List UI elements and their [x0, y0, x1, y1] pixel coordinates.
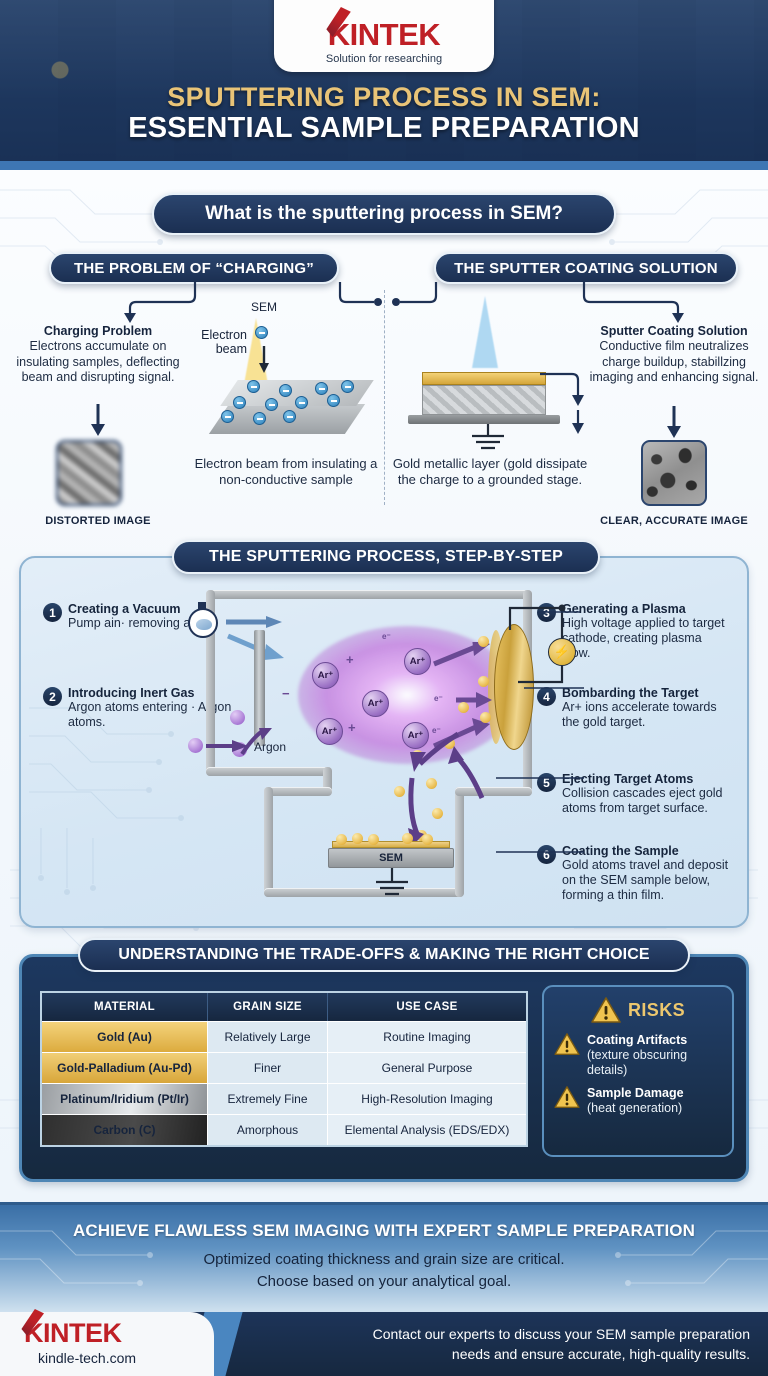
cell-grain: Amorphous: [208, 1114, 328, 1145]
section-heading-process: THE SPUTTERING PROCESS, STEP-BY-STEP: [172, 540, 600, 574]
solution-text-block: Sputter Coating Solution Conductive film…: [588, 324, 760, 385]
brand-name: KINTEK: [328, 17, 440, 52]
plus-marker: +: [346, 652, 354, 667]
argon-atom-particle: [230, 710, 245, 725]
surface-electron-icon: [279, 384, 292, 397]
electron-beam-label: Electron beam: [195, 328, 247, 357]
surface-electron-icon: [233, 396, 246, 409]
solution-body: Conductive film neutralizes charge build…: [588, 339, 760, 385]
risks-heading-label: RISKS: [628, 1000, 685, 1021]
step-number-badge: 2: [43, 687, 62, 706]
argon-ion-particle: Ar⁺: [316, 718, 343, 745]
risk-subtext: (texture obscuring details): [587, 1048, 722, 1078]
chamber-ground-symbol-icon: [372, 868, 414, 902]
coated-beam-cone-icon: [472, 296, 498, 368]
footer-bar: KINTEK kindle-tech.com Contact our exper…: [0, 1312, 768, 1376]
step-title: Generating a Plasma: [562, 602, 729, 616]
risk-subtext: (heat generation): [587, 1101, 684, 1116]
chamber-pipe-link-left: [264, 787, 332, 796]
column-header-use-case: USE CASE: [328, 993, 526, 1021]
gold-atom-particle: [478, 676, 489, 687]
section-heading-question: What is the sputtering process in SEM?: [152, 193, 616, 235]
surface-electron-icon: [221, 410, 234, 423]
step-body: Collision cascades eject gold atoms from…: [562, 786, 729, 816]
brand-tagline: Solution for researching: [326, 53, 442, 65]
distorted-image-label: DISTORTED IMAGE: [14, 515, 182, 527]
sputtering-process-panel: 1 Creating a Vacuum Pump ain· removing a…: [19, 556, 749, 928]
solution-down-arrow-icon: [656, 406, 692, 440]
chamber-pipe-top: [206, 590, 532, 599]
risk-name: Sample Damage: [587, 1086, 684, 1101]
warning-triangle-icon: [554, 1086, 580, 1109]
table-row: Carbon (C) Amorphous Elemental Analysis …: [42, 1114, 526, 1145]
electron-marker: e⁻: [382, 632, 391, 641]
footer-contact-line-1: Contact our experts to discuss your SEM …: [250, 1326, 750, 1342]
solution-title: Sputter Coating Solution: [588, 324, 760, 339]
argon-ion-particle: Ar⁺: [404, 648, 431, 675]
cell-grain: Finer: [208, 1052, 328, 1083]
argon-atom-particle: [188, 738, 203, 753]
cell-grain: Extremely Fine: [208, 1083, 328, 1114]
gold-coating-layer: [422, 372, 546, 385]
step-title: Ejecting Target Atoms: [562, 772, 729, 786]
step-title: Bombarding the Target: [562, 686, 729, 700]
table-row: Gold-Palladium (Au-Pd) Finer General Pur…: [42, 1052, 526, 1083]
deposited-gold-atom: [336, 834, 347, 845]
deposited-gold-atom: [352, 833, 363, 844]
sem-source-label: SEM: [251, 300, 277, 314]
risk-name: Coating Artifacts: [587, 1033, 722, 1048]
problem-title: Charging Problem: [14, 324, 182, 339]
sputter-chamber-diagram: ⚡ Ar⁺ Ar⁺ Ar⁺ Ar⁺ Ar⁺ e⁻ e⁻ e⁻ + + −: [206, 590, 576, 920]
cta-title: ACHIEVE FLAWLESS SEM IMAGING WITH EXPERT…: [0, 1221, 768, 1241]
sample-body-layer: [422, 385, 546, 415]
chamber-lower-left: [264, 787, 273, 897]
cell-material: Platinum/Iridium (Pt/Ir): [42, 1083, 208, 1114]
beam-electron-icon: [255, 326, 268, 339]
step-title: Coating the Sample: [562, 844, 729, 858]
cell-use: Elemental Analysis (EDS/EDX): [328, 1114, 526, 1145]
cta-line-2: Choose based on your analytical goal.: [0, 1273, 768, 1290]
gold-atom-particle: [478, 636, 489, 647]
cta-line-1: Optimized coating thickness and grain si…: [0, 1251, 768, 1268]
grounded-stage: [408, 415, 560, 424]
warning-triangle-icon: [591, 997, 621, 1024]
surface-electron-icon: [265, 398, 278, 411]
charge-dissipation-arrows-icon: [540, 368, 592, 452]
footer-brand-name: KINTEK: [24, 1318, 122, 1348]
gold-atom-particle: [480, 712, 491, 723]
cell-use: High-Resolution Imaging: [328, 1083, 526, 1114]
surface-electron-icon: [247, 380, 260, 393]
electron-beam-diagram: SEM Electron beam: [195, 300, 380, 445]
cell-use: General Purpose: [328, 1052, 526, 1083]
step-body: High voltage applied to target cathode, …: [562, 616, 729, 660]
sem-sample-stage: SEM: [328, 848, 454, 868]
clear-sem-image: [641, 440, 707, 506]
argon-ion-particle: Ar⁺: [312, 662, 339, 689]
cta-band: ACHIEVE FLAWLESS SEM IMAGING WITH EXPERT…: [0, 1202, 768, 1312]
section-divider: [384, 290, 385, 505]
problem-down-arrow-icon: [80, 404, 116, 438]
footer-logo-wordmark: KINTEK: [24, 1318, 122, 1349]
materials-comparison-table: MATERIAL GRAIN SIZE USE CASE Gold (Au) R…: [40, 991, 528, 1147]
ground-symbol-icon: [468, 424, 508, 454]
column-header-material: MATERIAL: [42, 993, 208, 1021]
table-row: Gold (Au) Relatively Large Routine Imagi…: [42, 1021, 526, 1052]
surface-electron-icon: [315, 382, 328, 395]
footer-logo-block: KINTEK kindle-tech.com: [0, 1312, 214, 1376]
step-leader-lines: [496, 590, 586, 900]
section-heading-problem: THE PROBLEM OF “CHARGING”: [49, 252, 339, 284]
tradeoffs-panel: MATERIAL GRAIN SIZE USE CASE Gold (Au) R…: [19, 954, 749, 1182]
surface-electron-icon: [253, 412, 266, 425]
step-body: Ar+ ions accelerate towards the gold tar…: [562, 700, 729, 730]
cell-grain: Relatively Large: [208, 1021, 328, 1052]
beam-direction-arrow-icon: [257, 346, 271, 374]
gold-atom-particle: [458, 702, 469, 713]
section-heading-tradeoffs: UNDERSTANDING THE TRADE-OFFS & MAKING TH…: [78, 938, 690, 972]
step-body: Gold atoms travel and deposit on the SEM…: [562, 858, 729, 902]
table-row: Platinum/Iridium (Pt/Ir) Extremely Fine …: [42, 1083, 526, 1114]
minus-marker: −: [282, 686, 290, 701]
risk-item-sample-damage: Sample Damage (heat generation): [544, 1077, 732, 1116]
footer-contact-line-2: needs and ensure accurate, high-quality …: [250, 1346, 750, 1362]
risks-heading-row: RISKS: [544, 987, 732, 1024]
risks-panel: RISKS Coating Artifacts (texture obscuri…: [542, 985, 734, 1157]
distorted-sem-image: [56, 440, 122, 506]
vacuum-pump-icon: [188, 608, 218, 638]
cell-material: Carbon (C): [42, 1114, 208, 1145]
solution-diagram-caption: Gold metallic layer (gold dissipate the …: [390, 456, 590, 489]
cell-material: Gold-Palladium (Au-Pd): [42, 1052, 208, 1083]
page-title-line-1: SPUTTERING PROCESS IN SEM:: [0, 82, 768, 113]
surface-electron-icon: [341, 380, 354, 393]
argon-ion-particle: Ar⁺: [362, 690, 389, 717]
deposited-gold-atom: [402, 833, 413, 844]
pump-neck-icon: [198, 602, 206, 609]
section-heading-solution: THE SPUTTER COATING SOLUTION: [434, 252, 738, 284]
surface-electron-icon: [295, 396, 308, 409]
problem-body: Electrons accumulate on insulating sampl…: [14, 339, 182, 385]
problem-diagram-caption: Electron beam from insulating a non-cond…: [188, 456, 384, 489]
chamber-lower-bottom: [264, 888, 464, 897]
warning-triangle-icon: [554, 1033, 580, 1056]
plus-marker: +: [348, 720, 356, 735]
table-header-row: MATERIAL GRAIN SIZE USE CASE: [42, 993, 526, 1021]
cell-material: Gold (Au): [42, 1021, 208, 1052]
argon-label: Argon: [254, 740, 286, 754]
deposited-gold-atom: [368, 834, 379, 845]
footer-website-url[interactable]: kindle-tech.com: [38, 1350, 136, 1366]
header-banner: KINTEK Solution for researching SPUTTERI…: [0, 0, 768, 170]
page-title-line-2: ESSENTIAL SAMPLE PREPARATION: [0, 112, 768, 145]
deposited-gold-atom: [422, 834, 433, 845]
header-bottom-bar: [0, 161, 768, 170]
cell-use: Routine Imaging: [328, 1021, 526, 1052]
step-number-badge: 1: [43, 603, 62, 622]
sputter-deposition-arrows-icon: [390, 730, 500, 850]
brand-logo-wordmark: KINTEK: [328, 19, 440, 50]
column-header-grain-size: GRAIN SIZE: [208, 993, 328, 1021]
sputter-coated-diagram: [400, 296, 590, 446]
problem-text-block: Charging Problem Electrons accumulate on…: [14, 324, 182, 385]
surface-electron-icon: [283, 410, 296, 423]
surface-electron-icon: [327, 394, 340, 407]
clear-image-label: CLEAR, ACCURATE IMAGE: [588, 515, 760, 527]
risk-item-coating-artifacts: Coating Artifacts (texture obscuring det…: [544, 1024, 732, 1077]
brand-logo-plate: KINTEK Solution for researching: [274, 0, 494, 72]
